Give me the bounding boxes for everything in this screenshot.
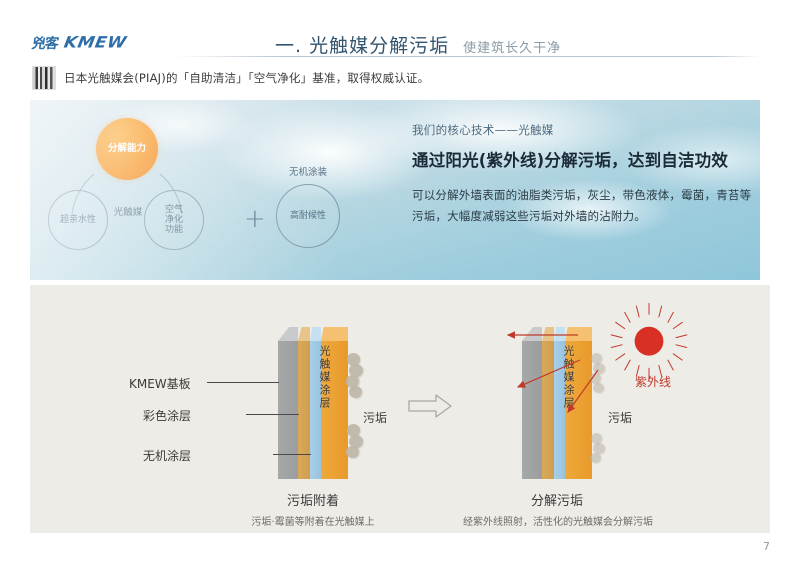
core-technology-kicker: 我们的核心技术——光触媒: [412, 122, 752, 138]
caption-title-right: 分解污垢: [502, 490, 612, 509]
venn-center-label: 光触媒: [98, 204, 158, 218]
dirt-blob: [590, 453, 601, 463]
piaj-certification-text: 日本光触媒会(PIAJ)的「自助清洁」「空气净化」基准，取得权威认证。: [64, 70, 429, 86]
leader-line-kmew-base: [207, 382, 279, 383]
sky-banner-panel: 分解能力 超亲水性 空气 净化 功能 光触媒 + 无机涂装 高耐候性 我们的核心…: [30, 100, 760, 280]
page-title: 一. 光触媒分解污垢: [275, 31, 449, 58]
diagram-panel: 光触媒涂层 污垢 KMEW基板 彩色涂层 无机涂层 污垢附着 污垢·霉菌等附着在…: [30, 285, 770, 533]
right-arrow-icon: [408, 393, 452, 419]
piaj-certification-row: 日本光触媒会(PIAJ)的「自助清洁」「空气净化」基准，取得权威认证。: [32, 66, 429, 90]
core-technology-body: 可以分解外墙表面的油脂类污垢，灰尘，带色液体，霉菌，青苔等污垢，大幅度减弱这些污…: [412, 185, 752, 228]
page-subtitle: 使建筑长久干净: [463, 37, 561, 56]
slide-title-group: 一. 光触媒分解污垢 使建筑长久干净: [275, 31, 561, 58]
caption-title-left: 污垢附着: [258, 490, 368, 509]
leader-line-inorganic-coating: [273, 454, 311, 455]
label-kmew-base: KMEW基板: [129, 375, 191, 392]
piaj-logo-icon: [32, 66, 56, 90]
caption-sub-left: 污垢·霉菌等附着在光触媒上: [213, 513, 413, 528]
plus-sign-icon: +: [244, 206, 266, 232]
label-inorganic-coating: 无机涂层: [143, 447, 191, 464]
air-purify-line-1: 空气: [165, 205, 183, 215]
core-technology-headline: 通过阳光(紫外线)分解污垢，达到自洁功效: [412, 147, 752, 171]
dirt-blob: [349, 386, 362, 398]
sky-text-block: 我们的核心技术——光触媒 通过阳光(紫外线)分解污垢，达到自洁功效 可以分解外墙…: [412, 122, 752, 228]
wall-cross-section-left: 光触媒涂层: [278, 327, 348, 479]
venn-circle-air-purify-label: 空气 净化 功能: [165, 205, 183, 235]
air-purify-line-2: 净化: [165, 215, 183, 225]
venn-circle-hydrophilic: 超亲水性: [48, 190, 108, 250]
uv-ray-arrow-icon: [470, 307, 650, 427]
leader-line-color-coating: [246, 414, 299, 415]
label-color-coating: 彩色涂层: [143, 407, 191, 424]
venn-circle-air-purify: 空气 净化 功能: [144, 190, 204, 250]
technology-venn-diagram: 分解能力 超亲水性 空气 净化 功能 光触媒 + 无机涂装 高耐候性: [48, 118, 378, 258]
dirt-blob: [346, 446, 359, 458]
uv-label: 紫外线: [635, 373, 671, 390]
caption-sub-right: 经紫外线照射，活性化的光触媒会分解污垢: [438, 513, 678, 528]
logo-chinese-text: 兇客: [31, 33, 60, 53]
air-purify-line-3: 功能: [165, 225, 183, 235]
venn-circle-weather-resistance: 高耐候性: [276, 184, 340, 248]
venn-circle-decompose: 分解能力: [96, 118, 158, 180]
photocatalyst-layer-label-left: 光触媒涂层: [300, 345, 348, 410]
kmew-logo: 兇客 KMEW: [32, 33, 126, 53]
venn-circle-decompose-label: 分解能力: [108, 144, 146, 155]
venn-circle-weather-resistance-label: 高耐候性: [290, 211, 326, 221]
dirt-label-left: 污垢: [363, 409, 387, 426]
venn-circle-hydrophilic-label: 超亲水性: [60, 215, 96, 225]
logo-english-text: KMEW: [62, 34, 128, 52]
inorganic-coating-label: 无机涂装: [273, 164, 343, 178]
wall-top-bevel-left: [278, 327, 348, 341]
slide-page: 兇客 KMEW 一. 光触媒分解污垢 使建筑长久干净 日本光触媒会(PIAJ)的…: [0, 0, 800, 565]
title-divider: [175, 56, 760, 57]
page-number: 7: [763, 540, 770, 553]
